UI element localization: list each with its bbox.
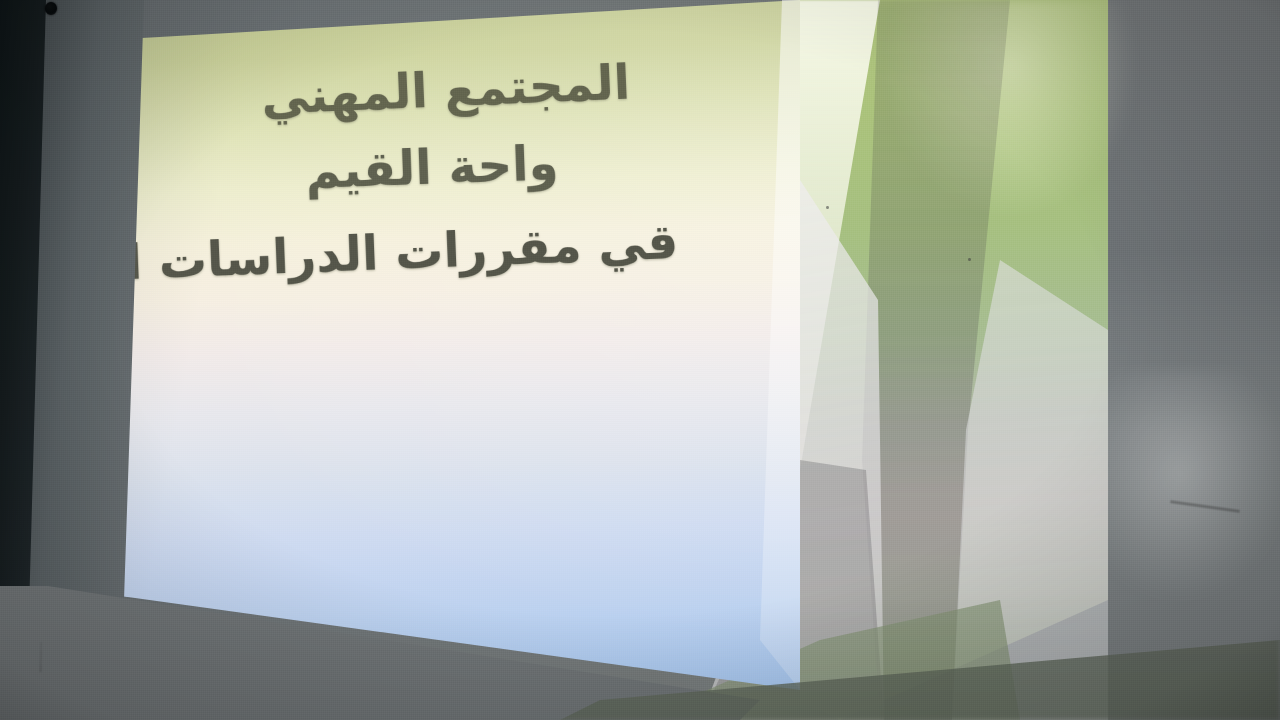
dust-speck — [826, 206, 829, 209]
screenshot-root: المجتمع المهني واحة القيم قي مقررات الدر… — [0, 0, 1280, 720]
wall-glare-highlight — [1090, 370, 1280, 600]
dust-speck — [968, 258, 971, 261]
screen-mount-screw-icon — [45, 2, 57, 15]
